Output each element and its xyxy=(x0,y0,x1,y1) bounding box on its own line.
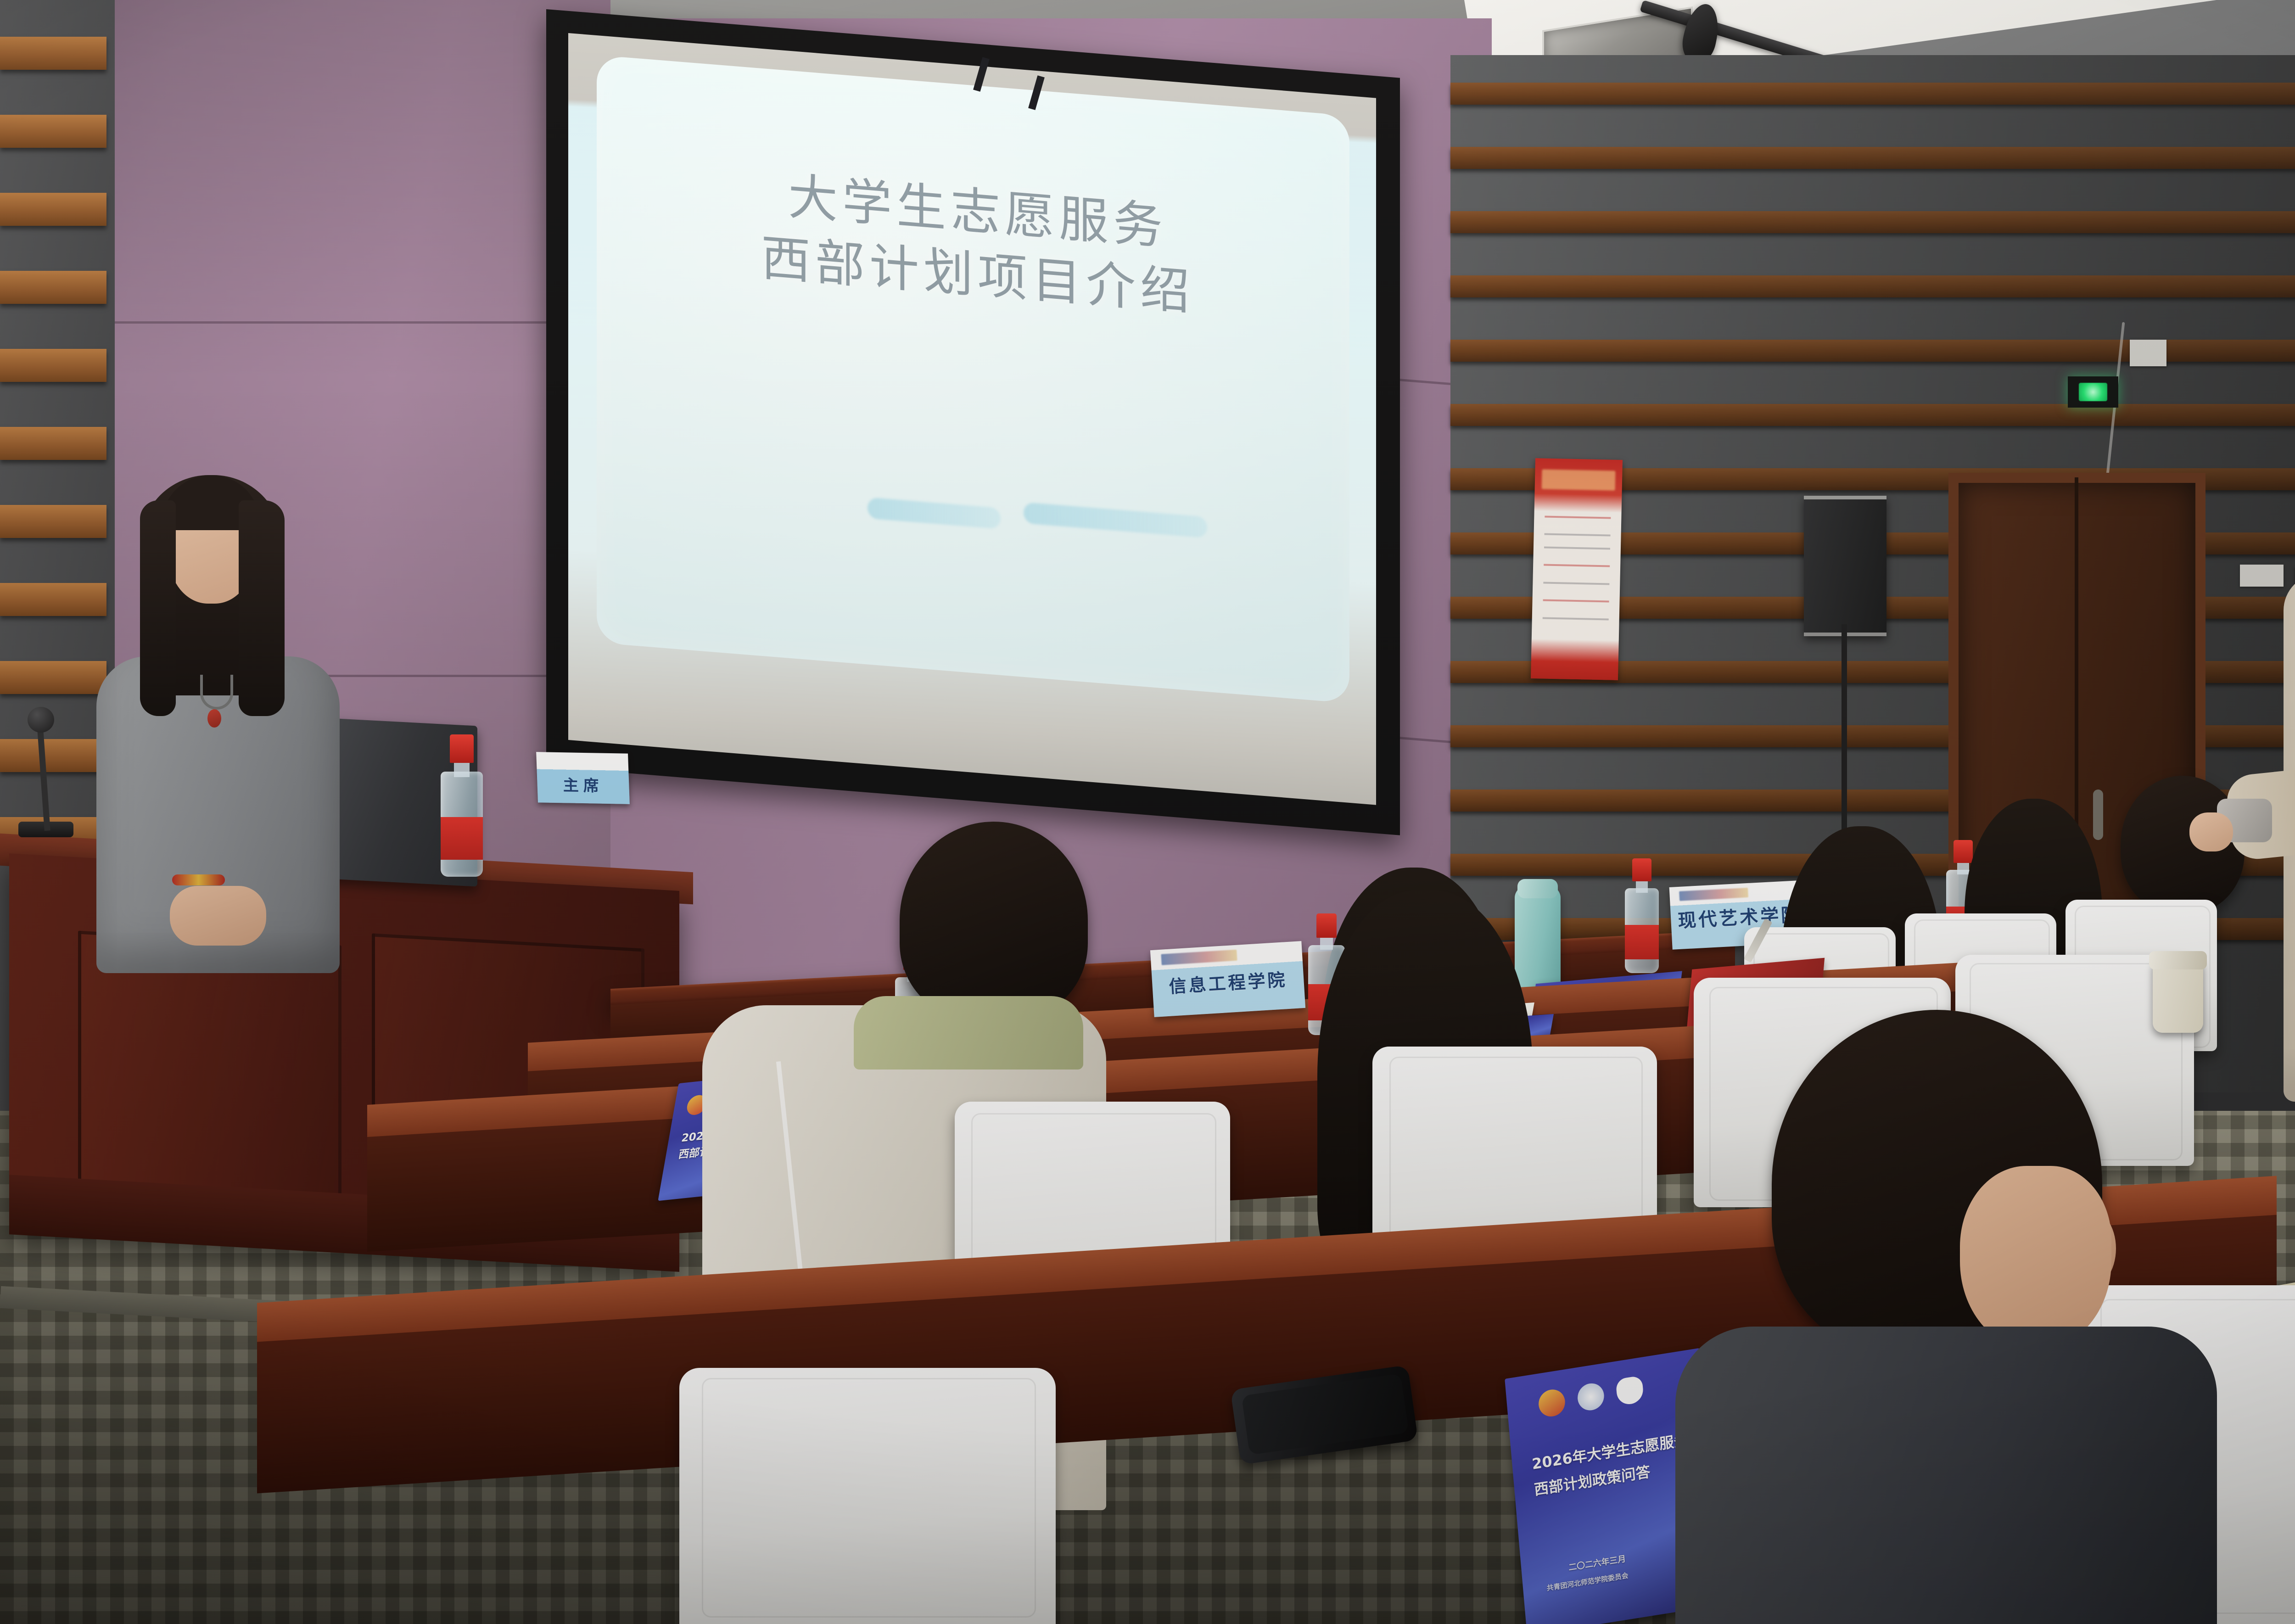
attendee-collar-row3 xyxy=(854,996,1083,1070)
pa-speaker xyxy=(1804,496,1886,636)
slide-content-card xyxy=(597,55,1349,703)
exit-sign xyxy=(2068,376,2118,408)
exit-sign-glyph xyxy=(2079,383,2107,401)
microphone-head xyxy=(28,707,54,733)
foreground-attendee-face xyxy=(1960,1166,2111,1350)
presenter-bracelet xyxy=(172,874,225,885)
poster-header xyxy=(1542,469,1615,491)
wood-slat xyxy=(0,115,106,148)
lecture-room-photo: 大学生志愿服务 西部计划项目介绍 xyxy=(0,0,2295,1624)
wall-junction-box xyxy=(2130,340,2166,366)
water-bottle-far-1[interactable] xyxy=(1625,858,1659,973)
wood-slat xyxy=(0,739,106,772)
wood-slat xyxy=(0,37,106,70)
wood-slat xyxy=(0,583,106,616)
podium-nameplate: 主席 xyxy=(536,752,630,804)
door-handle[interactable] xyxy=(2093,790,2103,840)
wall-seam-1 xyxy=(115,321,615,324)
podium-nameplate-label: 主席 xyxy=(537,772,630,796)
water-bottle-podium[interactable] xyxy=(441,734,483,877)
wood-slat xyxy=(0,193,106,226)
red-notice-poster xyxy=(1531,458,1623,680)
standing-woman-hand xyxy=(2189,812,2233,851)
wall-switch-plate-1[interactable] xyxy=(2240,565,2284,587)
brochure-foreground-date: 二〇二六年三月 xyxy=(1568,1552,1626,1574)
presenter-pendant xyxy=(207,709,221,728)
brochure-foreground-issuer: 共青团河北师范学院委员会 xyxy=(1546,1570,1629,1593)
chair-row4-1[interactable] xyxy=(679,1368,1056,1624)
attendee-head-row3-male xyxy=(900,822,1088,1019)
thermos-cap xyxy=(1517,879,1558,898)
paper-cup[interactable] xyxy=(2153,959,2203,1033)
presenter-hair-left xyxy=(140,500,176,716)
foreground-attendee-torso xyxy=(1675,1327,2217,1624)
wood-slat xyxy=(0,349,106,382)
wood-slat xyxy=(0,427,106,460)
presenter-hair-right xyxy=(239,500,285,716)
wood-slat xyxy=(0,505,106,538)
wood-slat xyxy=(0,271,106,304)
nameplate-information-engineering: 信息工程学院 xyxy=(1150,941,1305,1017)
wood-slat xyxy=(0,661,106,694)
nameplate-information-engineering-label: 信息工程学院 xyxy=(1168,966,1289,1016)
presenter-necklace xyxy=(200,675,233,710)
paper-cup-lid xyxy=(2149,951,2207,969)
presenter-hands xyxy=(170,886,266,946)
